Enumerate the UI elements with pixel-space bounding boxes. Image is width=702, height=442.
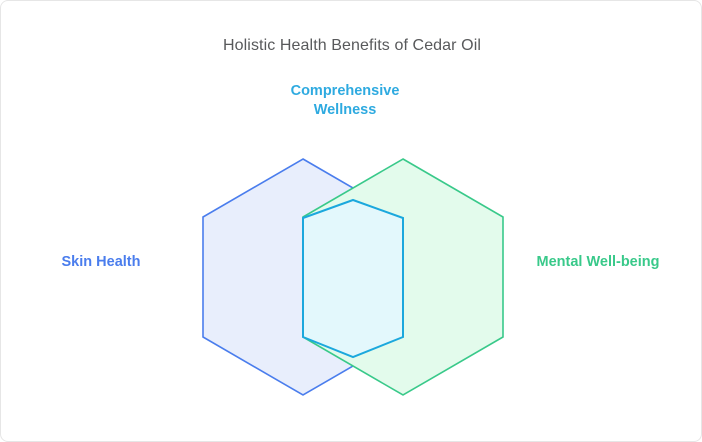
set-label-mental-wellbeing: Mental Well-being — [513, 253, 683, 272]
diagram-canvas: Holistic Health Benefits of Cedar Oil Co… — [0, 0, 702, 442]
hexagon-comprehensive-wellness[interactable] — [303, 200, 403, 357]
venn-diagram — [1, 1, 702, 442]
set-label-skin-health: Skin Health — [21, 253, 181, 272]
set-label-comprehensive-wellness: Comprehensive Wellness — [245, 82, 445, 120]
